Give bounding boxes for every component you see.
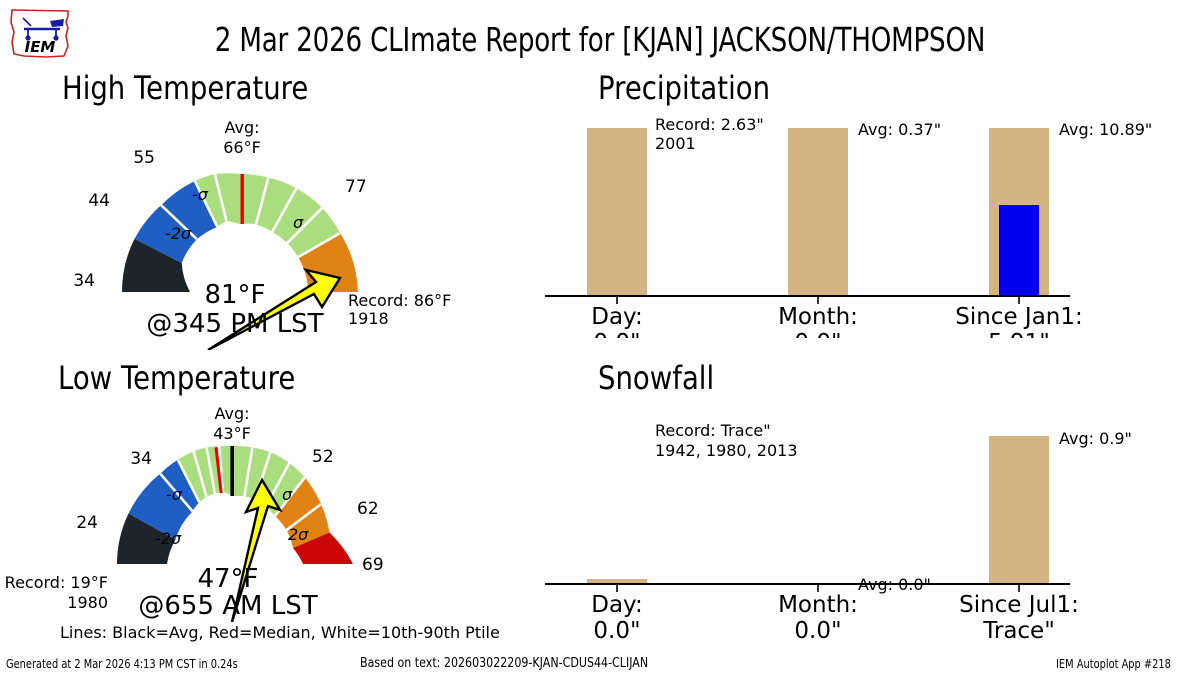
precip-label-0-line2: 0.0" xyxy=(593,330,640,338)
gauge-value-time-low: @655 AM LST xyxy=(138,591,317,621)
gauge-tick-high-2: 55 xyxy=(133,148,155,168)
gauge-tick-high-0: 34 xyxy=(73,271,95,291)
precip-observed-bar-2 xyxy=(999,205,1039,296)
svg-text:IEM: IEM xyxy=(25,38,56,56)
gauge-avg-label-high-line2: 66°F xyxy=(223,138,261,157)
snow-annotation-1-line1: Avg: 0.0" xyxy=(858,575,931,594)
snow-annotation-0-line1: Record: Trace" xyxy=(655,421,771,440)
snowfall-chart: Record: Trace" 1942, 1980, 2013 Avg: 0.0… xyxy=(545,400,1200,650)
gauge-record-low-line1: Record: 19°F xyxy=(5,573,108,592)
precip-reference-bar-1 xyxy=(788,128,848,296)
precip-annotation-0-line2: 2001 xyxy=(655,134,696,153)
gauge-tick-low-2: 52 xyxy=(312,447,334,467)
precip-bar-group-1 xyxy=(788,128,848,296)
iem-logo-icon[interactable]: IEM xyxy=(6,6,74,62)
precip-reference-bar-0 xyxy=(587,128,647,296)
snow-label-0-line1: Day: xyxy=(591,592,643,618)
gauge-avg-label-high-line1: Avg: xyxy=(224,118,259,137)
gauge-value-low: 47°F xyxy=(197,564,258,594)
gauge-value-time-high: @345 PM LST xyxy=(146,309,323,339)
footer-based-on-text: Based on text: 202603022209-KJAN-CDUS44-… xyxy=(360,655,648,671)
gauge-legend-note: Lines: Black=Avg, Red=Median, White=10th… xyxy=(60,623,500,642)
gauge-record-high-line2: 1918 xyxy=(348,309,389,328)
gauge-tick-high-1: 44 xyxy=(88,191,110,211)
gauge-avg-label-low-line2: 43°F xyxy=(213,424,251,443)
gauge-record-low-line2: 1980 xyxy=(67,593,108,612)
climate-report-page: IEM 2 Mar 2026 CLImate Report for [KJAN]… xyxy=(0,0,1200,675)
panel-title-snowfall: Snowfall xyxy=(598,360,714,396)
footer-generated: Generated at 2 Mar 2026 4:13 PM CST in 0… xyxy=(6,657,238,671)
gauge-sigma-low-2: σ xyxy=(282,485,293,504)
gauge-tick-low-3: 62 xyxy=(357,499,379,519)
page-title: 2 Mar 2026 CLImate Report for [KJAN] JAC… xyxy=(72,20,1128,60)
snow-label-1-line2: 0.0" xyxy=(794,618,841,644)
gauge-sigma-high-1: -σ xyxy=(192,185,209,204)
gauge-sigma-low-1: -σ xyxy=(166,485,183,504)
gauge-tick-high-3: 77 xyxy=(345,177,367,197)
gauge-tick-low-4: 69 xyxy=(362,555,384,575)
snow-label-0-line2: 0.0" xyxy=(593,618,640,644)
precip-label-2-line1: Since Jan1: xyxy=(955,304,1083,330)
gauge-avg-label-low-line1: Avg: xyxy=(214,404,249,423)
precip-label-2-line2: 5.91" xyxy=(988,330,1050,338)
panel-title-low-temperature: Low Temperature xyxy=(58,360,295,396)
snow-annotation-2-line1: Avg: 0.9" xyxy=(1059,429,1132,448)
snow-reference-bar-2 xyxy=(989,436,1049,584)
gauge-sigma-low-0: -2σ xyxy=(155,529,182,548)
high-temperature-gauge: 34 44 55 77 -2σ -σ σ Avg: 66°F 81°F @345… xyxy=(0,100,545,350)
snow-label-1-line1: Month: xyxy=(778,592,858,618)
snow-label-2-line2: Trace" xyxy=(982,618,1055,644)
precip-label-0-line1: Day: xyxy=(591,304,643,330)
footer-app-id: IEM Autoplot App #218 xyxy=(1056,657,1171,671)
gauge-tick-low-0: 24 xyxy=(76,513,98,533)
precip-annotation-1-line1: Avg: 0.37" xyxy=(858,120,941,139)
precip-label-1-line1: Month: xyxy=(778,304,858,330)
gauge-sigma-high-0: -2σ xyxy=(165,224,192,243)
gauge-sigma-low-3: 2σ xyxy=(288,525,309,544)
snow-label-2-line1: Since Jul1: xyxy=(959,592,1079,618)
precip-label-1-line2: 0.0" xyxy=(794,330,841,338)
precip-annotation-2-line1: Avg: 10.89" xyxy=(1059,120,1152,139)
precip-bar-group-0 xyxy=(587,128,647,296)
gauge-tick-low-1: 34 xyxy=(130,449,152,469)
gauge-sigma-high-2: σ xyxy=(293,213,304,232)
gauge-record-high-line1: Record: 86°F xyxy=(348,291,451,310)
precip-bar-group-2 xyxy=(989,128,1049,296)
snow-bar-group-2 xyxy=(989,436,1049,584)
gauge-value-high: 81°F xyxy=(204,280,265,310)
precip-annotation-0-line1: Record: 2.63" xyxy=(655,115,764,134)
snow-annotation-0-line2: 1942, 1980, 2013 xyxy=(655,441,798,460)
low-temperature-gauge: 24 34 52 62 69 -2σ -σ σ 2σ Avg: 43°F 47°… xyxy=(0,392,545,622)
precipitation-chart: Record: 2.63" 2001 Avg: 0.37" Avg: 10.89… xyxy=(545,108,1200,338)
panel-title-precipitation: Precipitation xyxy=(598,70,770,106)
